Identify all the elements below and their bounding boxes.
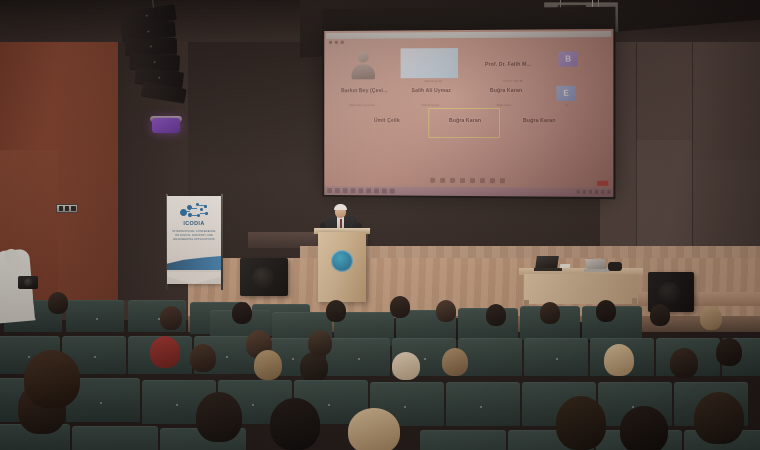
shared-screen-tile[interactable] (401, 48, 458, 78)
presenter-hair (334, 204, 347, 210)
audience-head (694, 392, 744, 444)
audience-head (716, 338, 742, 366)
audience-head (390, 296, 410, 318)
banner-wave-graphic (167, 256, 221, 270)
auditorium-scene: Prof. Dr. Fatih M... B Salih Ali Uymaz P… (0, 0, 760, 450)
participant-status: Barkın Bey (Çevirmen) (332, 104, 393, 107)
participants-button[interactable] (450, 178, 455, 183)
reactions-button[interactable] (489, 178, 494, 183)
purple-stage-light (152, 118, 180, 133)
laptop-base (534, 268, 562, 271)
conference-banner: ICODIA INTERNATIONAL CONFERENCE ON DIGIT… (167, 196, 221, 284)
participant-status: Salih Ali Uymaz (399, 80, 468, 83)
projection-screen: Prof. Dr. Fatih M... B Salih Ali Uymaz P… (324, 29, 613, 197)
equipment-case (608, 262, 622, 271)
window-title-bar (326, 31, 611, 39)
system-tray[interactable] (576, 190, 610, 194)
photographer-head (24, 350, 80, 408)
window-controls[interactable] (329, 41, 344, 44)
avatar-silhouette (347, 49, 380, 79)
university-crest-icon (331, 250, 353, 272)
share-screen-button[interactable] (469, 178, 474, 183)
audience-head (650, 304, 670, 326)
audience-head (604, 344, 634, 376)
participant-status: Buğra Karan (470, 104, 538, 107)
chat-button[interactable] (460, 178, 465, 183)
audience-head (326, 300, 346, 322)
participant-status: Prof. Dr. Fatih M. (480, 80, 546, 83)
audience-head (150, 336, 180, 368)
audience-head (620, 406, 668, 450)
participant-status: Salih Ali Uymaz (401, 104, 460, 107)
audience-head (442, 348, 468, 376)
end-meeting-button[interactable] (597, 180, 608, 185)
audience-head (348, 408, 400, 450)
participant-avatar-letter-b[interactable]: B (558, 51, 577, 66)
taskbar-app-icons[interactable] (327, 188, 395, 194)
audience-head (300, 352, 328, 382)
subwoofer-left (240, 258, 288, 296)
audience-head (232, 302, 252, 324)
participant-grid: Prof. Dr. Fatih M... B Salih Ali Uymaz P… (330, 45, 607, 175)
participant-tile[interactable]: Buğra Karan (506, 116, 573, 134)
audience-head (196, 392, 242, 442)
mute-button[interactable] (430, 178, 435, 183)
ceiling-line-array-speaker (119, 5, 191, 107)
record-button[interactable] (479, 178, 484, 183)
participant-name: Buğra Karan (470, 88, 542, 94)
banner-pole (221, 194, 223, 290)
audience-head (596, 300, 616, 322)
audience-head (556, 396, 606, 450)
audience-head (540, 302, 560, 324)
av-control-panel[interactable] (56, 204, 78, 213)
av-table (524, 274, 638, 304)
speaker-podium (318, 232, 366, 302)
participant-tile[interactable]: Buğra Karan (432, 116, 498, 134)
audience-head (308, 330, 332, 356)
participant-tile[interactable]: Ümit Çelik (357, 116, 416, 134)
audience-head (48, 292, 68, 314)
participant-name: Prof. Dr. Fatih M... (472, 62, 544, 68)
banner-acronym: ICODIA (167, 221, 221, 227)
participant-tile[interactable]: Barkın Bey (Çevi... (332, 86, 397, 104)
audience-head (700, 306, 722, 330)
participant-status: E (540, 104, 593, 107)
meeting-toolbar[interactable] (328, 175, 609, 186)
participant-name: Buğra Karan (506, 118, 573, 124)
more-button[interactable] (499, 178, 504, 183)
banner-subtitle: INTERNATIONAL CONFERENCE ON DIGITAL INDU… (172, 230, 216, 242)
participant-name: Salih Ali Uymaz (401, 88, 462, 94)
participant-tile[interactable]: Salih Ali Uymaz (401, 86, 462, 104)
audience-head (190, 344, 216, 372)
participant-name: Ümit Çelik (357, 118, 416, 124)
audience-head (392, 352, 420, 380)
audience-head (160, 306, 182, 330)
audience-head (436, 300, 456, 322)
audience-head (270, 398, 320, 450)
presenter-tie (340, 219, 343, 228)
laptop-base (584, 269, 610, 272)
participant-name: Barkın Bey (Çevi... (332, 88, 397, 94)
audience-head (486, 304, 506, 326)
participant-tile[interactable]: Prof. Dr. Fatih M... (472, 48, 544, 80)
video-button[interactable] (440, 178, 445, 183)
audience-head (670, 348, 698, 378)
participant-name: Buğra Karan (432, 118, 498, 124)
camera (18, 276, 38, 289)
icodia-logo-icon (179, 202, 209, 220)
participant-tile[interactable]: Buğra Karan (470, 86, 542, 104)
participant-tile[interactable] (338, 48, 389, 80)
papers (560, 264, 571, 268)
participant-avatar-letter-e[interactable]: E (556, 86, 575, 101)
audience-head (254, 350, 282, 380)
